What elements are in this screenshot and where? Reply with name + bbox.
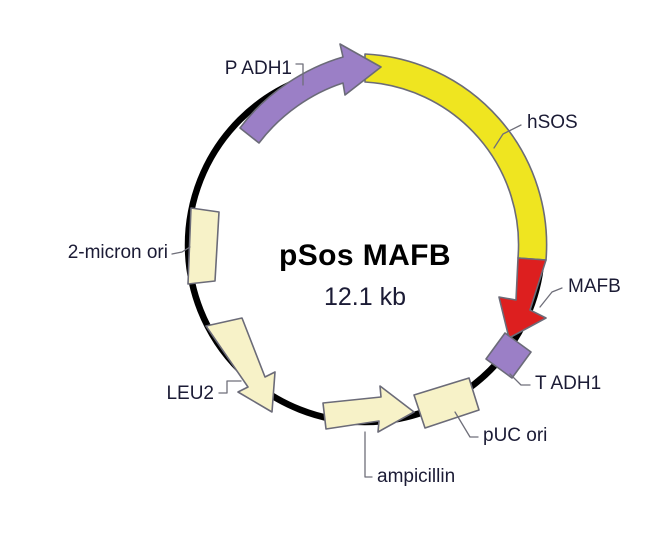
feature-hsos[interactable] [365, 54, 547, 260]
leader-leu2 [219, 381, 241, 393]
leader-ampicillin [365, 432, 372, 477]
feature-mafb[interactable] [499, 258, 546, 338]
label-two-micron-ori: 2-micron ori [68, 242, 168, 263]
label-ampicillin: ampicillin [377, 466, 455, 487]
feature-leu2[interactable] [206, 318, 275, 412]
plasmid-name: pSos MAFB [279, 239, 451, 272]
leader-mafb [540, 288, 562, 307]
label-leu2: LEU2 [166, 383, 214, 404]
plasmid-map: P ADH1 hSOS MAFB T ADH1 pUC ori ampicill… [0, 0, 660, 534]
feature-puc-ori[interactable] [414, 378, 479, 428]
plasmid-size: 12.1 kb [324, 283, 406, 311]
label-puc-ori: pUC ori [483, 425, 547, 446]
label-p-adh1: P ADH1 [225, 58, 292, 79]
feature-two-micron-ori[interactable] [188, 208, 219, 284]
plasmid-diagram: P ADH1 hSOS MAFB T ADH1 pUC ori ampicill… [0, 0, 660, 534]
label-hsos: hSOS [527, 112, 578, 133]
label-mafb: MAFB [568, 276, 621, 297]
label-t-adh1: T ADH1 [535, 373, 601, 394]
